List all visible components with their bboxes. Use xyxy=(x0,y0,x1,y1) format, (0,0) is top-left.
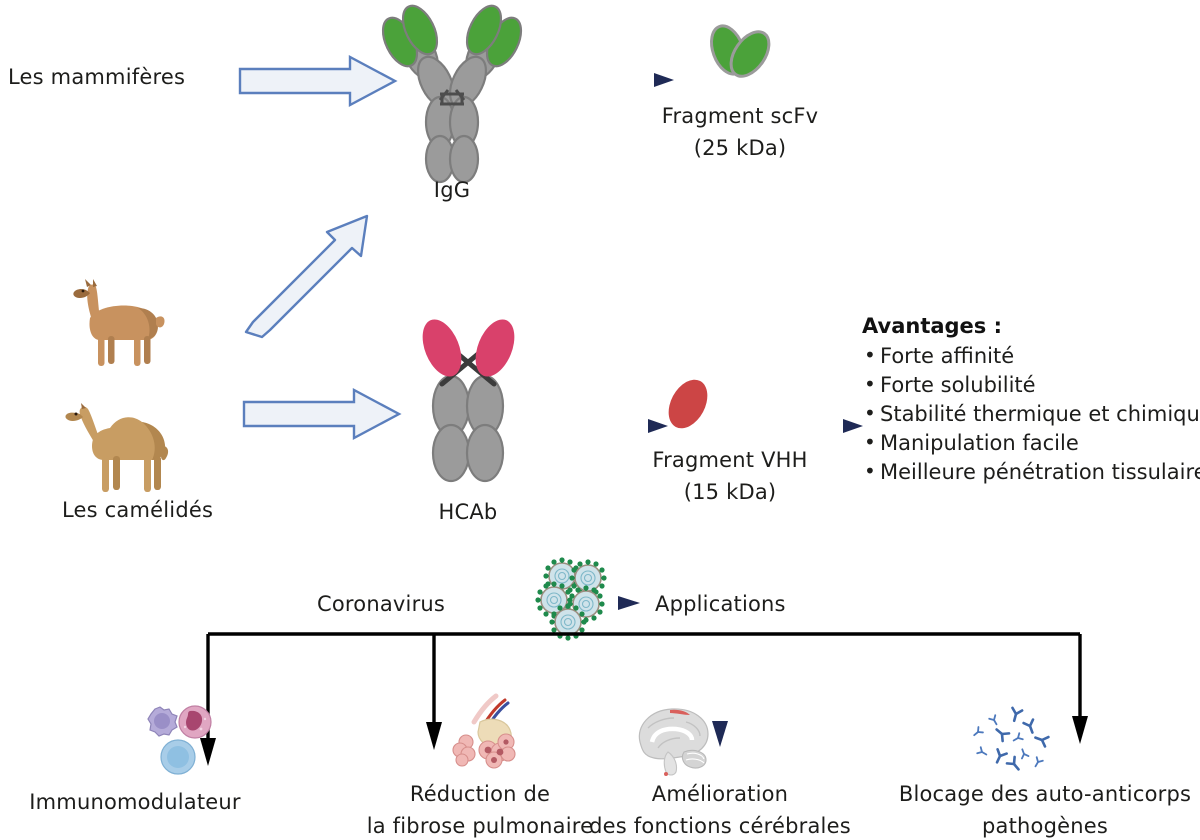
vhh-label-line2: (15 kDa) xyxy=(630,480,830,506)
brain-icon xyxy=(628,702,720,778)
application-label-cerveau-line2: des fonctions cérébrales xyxy=(570,814,870,840)
advantages-list: Forte affinité Forte solubilité Stabilit… xyxy=(862,344,1200,484)
advantage-item: Manipulation facile xyxy=(862,431,1200,455)
application-label-autoanticorps-line2: pathogènes xyxy=(890,814,1200,840)
scfv-label-line2: (25 kDa) xyxy=(640,136,840,162)
application-label-immunomodulateur: Immunomodulateur xyxy=(0,790,270,816)
mammals-label: Les mammifères xyxy=(8,65,185,91)
block-arrow-camelids-to-hcab xyxy=(242,388,402,440)
application-label-autoanticorps-line1: Blocage des auto-anticorps xyxy=(890,782,1200,808)
advantage-item: Forte affinité xyxy=(862,344,1200,368)
coronavirus-label: Coronavirus xyxy=(317,592,445,618)
arrow-hcab-to-vhh xyxy=(520,418,670,434)
scfv-fragment-icon xyxy=(700,20,780,82)
application-label-cerveau-line1: Amélioration xyxy=(570,782,870,808)
advantage-item: Meilleure pénétration tissulaire xyxy=(862,460,1200,484)
lung-fibrosis-icon xyxy=(436,692,528,774)
advantage-item: Stabilité thermique et chimique xyxy=(862,402,1200,426)
arrow-igg-to-scfv xyxy=(556,72,676,88)
hcab-label: HCAb xyxy=(408,500,528,526)
vhh-fragment-icon xyxy=(658,374,718,436)
arrow-vhh-to-advantages xyxy=(730,418,865,434)
block-arrow-camelids-to-igg xyxy=(243,200,383,340)
camelids-label: Les camélidés xyxy=(62,498,213,524)
llama-icon xyxy=(62,278,172,370)
antibody-cluster-icon xyxy=(968,700,1068,780)
figure-canvas: Les mammifères xyxy=(0,0,1200,835)
vhh-label-line1: Fragment VHH xyxy=(630,448,830,474)
camel-icon xyxy=(62,390,192,495)
igg-antibody-icon xyxy=(372,4,532,174)
advantage-item: Forte solubilité xyxy=(862,373,1200,397)
hcab-antibody-icon xyxy=(398,318,538,498)
advantages-title: Avantages : xyxy=(862,314,1200,338)
igg-label: IgG xyxy=(392,178,512,204)
advantages-block: Avantages : Forte affinité Forte solubil… xyxy=(862,314,1200,489)
scfv-label-line1: Fragment scFv xyxy=(640,104,840,130)
immune-cells-icon xyxy=(133,697,219,775)
